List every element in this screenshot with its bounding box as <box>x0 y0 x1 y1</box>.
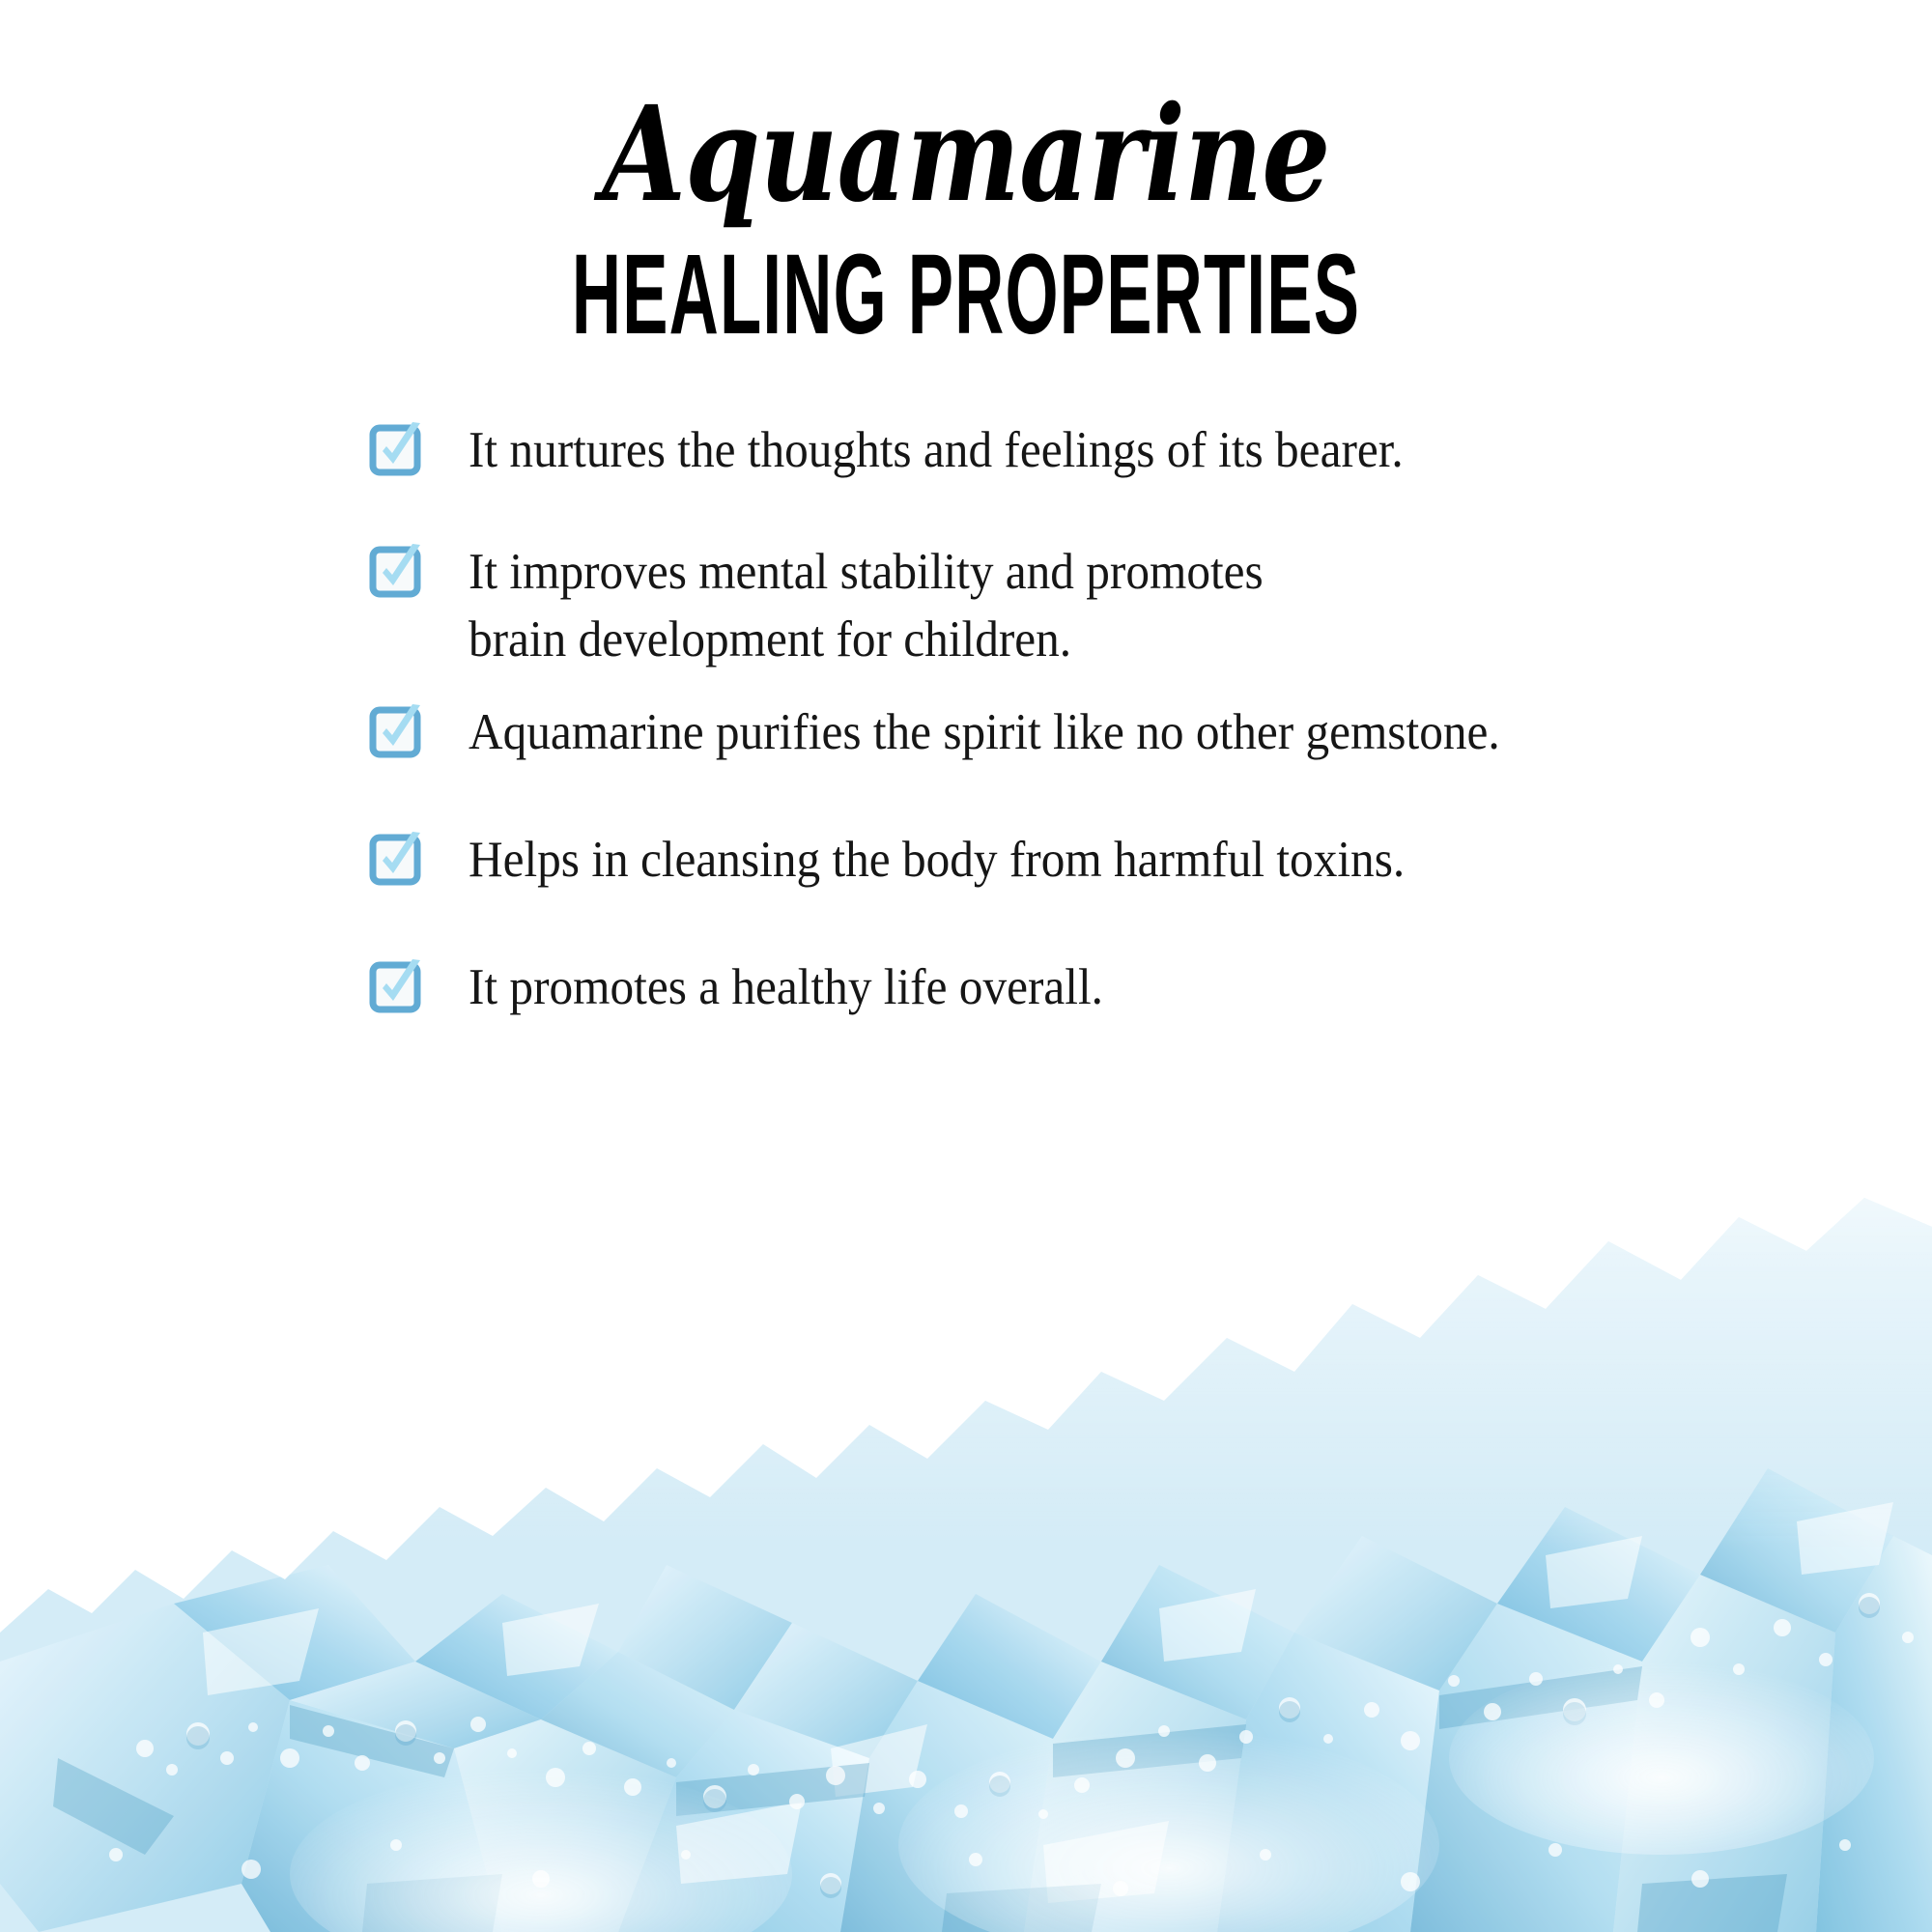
checked-checkbox-icon <box>370 958 424 1012</box>
list-item: It nurtures the thoughts and feelings of… <box>370 417 1587 485</box>
list-item-label: Helps in cleansing the body from harmful… <box>469 827 1405 895</box>
ice-cubes-photo <box>0 1082 1932 1932</box>
list-item: It improves mental stability and promote… <box>370 539 1587 674</box>
list-item-label: It promotes a healthy life overall. <box>469 954 1103 1022</box>
list-item-label: It improves mental stability and promote… <box>469 539 1264 674</box>
poster-header: Aquamarine HEALING PROPERTIES <box>0 0 1932 352</box>
checked-checkbox-icon <box>370 831 424 885</box>
poster-canvas: Aquamarine HEALING PROPERTIES It nurture… <box>0 0 1932 1932</box>
page-title: Aquamarine <box>174 89 1758 220</box>
checked-checkbox-icon <box>370 703 424 757</box>
list-item-label: Aquamarine purifies the spirit like no o… <box>469 699 1500 767</box>
list-item: It promotes a healthy life overall. <box>370 954 1587 1022</box>
checked-checkbox-icon <box>370 543 424 597</box>
checked-checkbox-icon <box>370 421 424 475</box>
list-item: Helps in cleansing the body from harmful… <box>370 827 1587 895</box>
page-subtitle: HEALING PROPERTIES <box>386 238 1546 352</box>
list-item-label: It nurtures the thoughts and feelings of… <box>469 417 1404 485</box>
list-item: Aquamarine purifies the spirit like no o… <box>370 699 1587 767</box>
healing-properties-list: It nurtures the thoughts and feelings of… <box>370 417 1587 1022</box>
